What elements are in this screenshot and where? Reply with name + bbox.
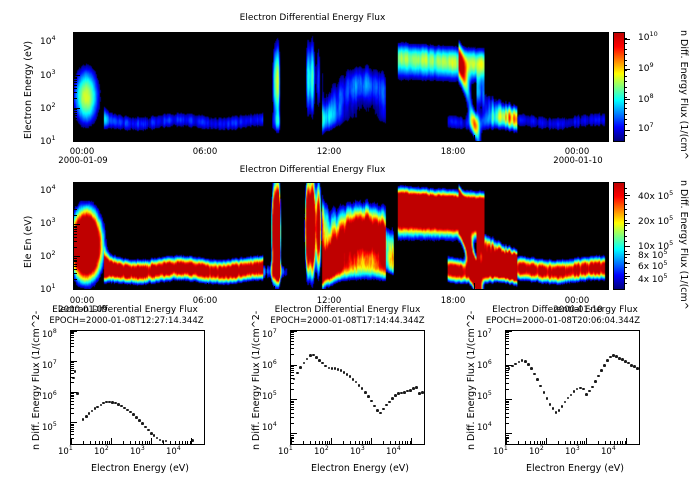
axis-tick: [291, 372, 294, 373]
axis-tick: [506, 433, 512, 434]
axis-tick: [291, 336, 294, 337]
axis-tick: [123, 441, 124, 444]
panel1-colorbar: [613, 32, 625, 142]
axis-tick: [506, 368, 509, 369]
colorbar-tick-minor: [624, 97, 627, 98]
panel1-date-right: 2000-01-10: [549, 157, 607, 166]
axis-tick: [343, 441, 344, 444]
axis-tick: [586, 438, 587, 444]
axis-tick: [506, 331, 512, 332]
axis-tick: [185, 441, 186, 444]
panel2-cbar-tick-40: 40x 105: [638, 193, 673, 202]
spectrum2-subtitle: EPOCH=2000-01-08T17:14:44.344Z: [245, 317, 450, 326]
axis-tick: [626, 438, 627, 444]
spectrum2-ytick-3: 106: [262, 362, 277, 371]
axis-tick: [71, 393, 74, 394]
panel2-title: Electron Differential Energy Flux: [0, 166, 625, 175]
axis-tick: [291, 437, 294, 438]
panel1-title: Electron Differential Energy Flux: [0, 14, 625, 23]
axis-tick: [525, 441, 526, 444]
panel2-colorbar: [613, 182, 625, 290]
axis-tick: [74, 80, 77, 81]
axis-tick: [291, 331, 297, 332]
axis-tick: [291, 441, 294, 442]
axis-tick: [546, 438, 547, 444]
data-point: [165, 440, 168, 443]
axis-tick: [565, 441, 566, 444]
axis-tick: [506, 375, 509, 376]
axis-tick: [496, 286, 497, 289]
panel2-ytick-2: 102: [40, 253, 56, 262]
colorbar-tick-minor: [624, 188, 627, 189]
axis-tick: [350, 441, 351, 444]
data-point: [391, 397, 394, 400]
axis-tick: [175, 441, 176, 444]
axis-tick: [139, 441, 140, 444]
axis-tick: [617, 441, 618, 444]
spectrum2-ytick-4: 107: [262, 331, 277, 340]
axis-tick: [506, 402, 509, 403]
axis-tick: [544, 441, 545, 444]
axis-tick: [452, 286, 453, 289]
axis-tick: [187, 441, 188, 444]
spectrum3-xtick-2: 102: [529, 448, 544, 457]
colorbar-tick-minor: [624, 225, 627, 226]
axis-tick: [291, 334, 294, 335]
data-point: [318, 359, 321, 362]
axis-tick: [71, 395, 74, 396]
axis-tick: [325, 441, 326, 444]
axis-tick: [541, 138, 542, 141]
axis-tick: [74, 65, 77, 66]
data-point: [606, 359, 609, 362]
spectrum3-ytick-3: 106: [477, 362, 492, 371]
data-point: [358, 384, 361, 387]
colorbar-tick-minor: [624, 76, 627, 77]
axis-tick: [359, 441, 360, 444]
axis-tick: [74, 113, 77, 114]
axis-tick: [109, 441, 110, 444]
data-point: [518, 361, 521, 364]
spectrum1-xlabel: Electron Energy (eV): [60, 464, 220, 474]
axis-tick: [506, 417, 509, 418]
axis-tick: [291, 354, 294, 355]
axis-tick: [74, 195, 77, 196]
axis-tick: [506, 441, 509, 442]
axis-tick: [506, 354, 509, 355]
axis-tick: [74, 264, 77, 265]
data-point: [303, 362, 306, 365]
axis-tick: [407, 138, 408, 141]
panel1-ytick-3: 103: [40, 72, 56, 81]
colorbar-tick-minor: [624, 262, 627, 263]
axis-tick: [341, 135, 342, 141]
axis-tick: [558, 441, 559, 444]
colorbar-tick-minor: [624, 81, 627, 82]
axis-tick: [274, 286, 275, 289]
axis-tick: [506, 332, 509, 333]
axis-tick: [541, 286, 542, 289]
spectrum1-xtick-1: 101: [58, 448, 73, 457]
axis-tick: [319, 441, 320, 444]
data-point: [153, 434, 156, 437]
axis-tick: [71, 368, 74, 369]
spectrum1-ytick-3: 107: [42, 362, 57, 371]
colorbar-tick-minor: [624, 119, 627, 120]
axis-tick: [71, 431, 74, 432]
data-point: [585, 393, 588, 396]
axis-tick: [71, 396, 74, 397]
axis-tick: [574, 441, 575, 444]
spectrum3-ytick-2: 105: [477, 393, 492, 402]
colorbar-tick-minor: [624, 103, 627, 104]
data-point: [135, 416, 138, 419]
axis-tick: [74, 109, 77, 110]
axis-tick: [506, 423, 509, 424]
data-point: [555, 411, 558, 414]
axis-tick: [207, 135, 208, 141]
spectrum2-xtick-4: 104: [386, 448, 401, 457]
axis-tick: [142, 441, 143, 444]
axis-tick: [185, 138, 186, 141]
spectrum1-xtick-2: 102: [94, 448, 109, 457]
axis-tick: [291, 413, 294, 414]
axis-tick: [118, 138, 119, 141]
axis-tick: [204, 441, 205, 444]
panel1-xtick-3: 12:00: [309, 148, 349, 157]
axis-tick: [518, 441, 519, 444]
axis-tick: [367, 441, 368, 444]
axis-tick: [140, 138, 141, 141]
colorbar-tick-minor: [624, 220, 627, 221]
colorbar-tick-minor: [624, 87, 627, 88]
colorbar-tick-minor: [624, 283, 627, 284]
spectrum2-xlabel: Electron Energy (eV): [280, 464, 440, 474]
axis-tick: [71, 427, 74, 428]
data-point: [364, 391, 367, 394]
axis-tick: [585, 138, 586, 141]
axis-tick: [402, 441, 403, 444]
data-point: [543, 391, 546, 394]
axis-tick: [74, 33, 77, 34]
panel2-cbar-tick-20: 20x 105: [638, 218, 673, 227]
data-point: [552, 407, 555, 410]
data-point: [546, 397, 549, 400]
axis-tick: [71, 362, 74, 363]
data-point: [530, 367, 533, 370]
spectrum1-plot: [70, 330, 205, 445]
data-point: [385, 404, 388, 407]
axis-tick: [322, 441, 323, 444]
data-point: [337, 368, 340, 371]
axis-tick: [291, 375, 294, 376]
axis-tick: [74, 269, 77, 270]
spectrum3-title: Electron Differential Energy Flux: [465, 306, 665, 315]
axis-tick: [71, 366, 74, 367]
axis-tick: [506, 413, 509, 414]
axis-tick: [430, 138, 431, 141]
axis-tick: [385, 138, 386, 141]
data-point: [315, 356, 318, 359]
panel1-date-left: 2000-01-09: [54, 157, 112, 166]
spectrum3-ytick-4: 107: [477, 331, 492, 340]
data-point: [367, 395, 370, 398]
colorbar-tick-minor: [624, 65, 627, 66]
axis-tick: [102, 441, 103, 444]
axis-tick: [506, 341, 509, 342]
axis-tick: [407, 441, 408, 444]
axis-tick: [580, 441, 581, 444]
panel2-ytick-1: 101: [40, 286, 56, 295]
axis-tick: [625, 441, 626, 444]
axis-tick: [331, 438, 332, 444]
colorbar-tick-minor: [624, 70, 627, 71]
axis-tick: [74, 215, 77, 216]
axis-tick: [74, 226, 77, 227]
axis-tick: [598, 441, 599, 444]
data-point: [388, 401, 391, 404]
axis-tick: [74, 59, 77, 60]
axis-tick: [585, 286, 586, 289]
axis-tick: [145, 441, 146, 444]
colorbar-tick-minor: [624, 214, 627, 215]
axis-tick: [71, 335, 74, 336]
axis-tick: [614, 441, 615, 444]
figure-root: Electron Differential Energy Flux Electr…: [0, 0, 697, 492]
axis-tick: [74, 283, 75, 289]
axis-tick: [410, 441, 411, 444]
panel2-colorbar-label: n Diff. Energy Flux (1/(cm^: [679, 180, 689, 310]
data-point: [636, 367, 639, 370]
axis-tick: [291, 402, 294, 403]
spectrum2-plot: [290, 330, 425, 445]
axis-tick: [452, 138, 453, 141]
data-point: [524, 360, 527, 363]
axis-tick: [291, 433, 297, 434]
axis-tick: [74, 82, 77, 83]
axis-tick: [291, 399, 297, 400]
data-point: [346, 373, 349, 376]
axis-tick: [163, 441, 164, 444]
axis-tick: [71, 382, 74, 383]
axis-tick: [329, 441, 330, 444]
data-point: [343, 371, 346, 374]
axis-tick: [506, 370, 509, 371]
axis-tick: [147, 441, 148, 444]
axis-tick: [74, 125, 77, 126]
data-point: [558, 409, 561, 412]
axis-tick: [383, 441, 384, 444]
axis-tick: [185, 286, 186, 289]
spectrum1-xtick-3: 103: [130, 448, 145, 457]
axis-tick: [74, 229, 77, 230]
data-point: [361, 387, 364, 390]
spectrum3-ytick-1: 104: [477, 424, 492, 433]
colorbar-tick-minor: [624, 241, 627, 242]
axis-tick: [537, 441, 538, 444]
data-point: [296, 372, 299, 375]
axis-tick: [582, 441, 583, 444]
spectrum2-ytick-2: 105: [262, 393, 277, 402]
spectrum2-xtick-1: 101: [278, 448, 293, 457]
axis-tick: [74, 42, 80, 43]
axis-tick: [111, 438, 112, 444]
axis-tick: [74, 98, 77, 99]
axis-tick: [130, 441, 131, 444]
colorbar-tick-minor: [624, 251, 627, 252]
colorbar-tick-minor: [624, 38, 627, 39]
colorbar-tick-minor: [624, 278, 627, 279]
axis-tick: [355, 441, 356, 444]
colorbar-tick-minor: [624, 124, 627, 125]
axis-tick: [74, 77, 77, 78]
axis-tick: [506, 344, 509, 345]
data-point: [536, 378, 539, 381]
axis-tick: [118, 286, 119, 289]
axis-tick: [74, 141, 80, 142]
axis-tick: [605, 441, 606, 444]
axis-tick: [390, 441, 391, 444]
colorbar-tick-minor: [624, 60, 627, 61]
data-point: [321, 362, 324, 365]
axis-tick: [506, 404, 509, 405]
panel1-xtick-4: 18:00: [433, 148, 473, 157]
data-point: [421, 391, 424, 394]
panel1-ytick-1: 101: [40, 138, 56, 147]
colorbar-tick-minor: [624, 108, 627, 109]
axis-tick: [74, 92, 77, 93]
axis-tick: [506, 348, 509, 349]
axis-tick: [99, 441, 100, 444]
axis-tick: [71, 424, 74, 425]
axis-tick: [506, 437, 509, 438]
data-point: [379, 412, 382, 415]
axis-tick: [315, 441, 316, 444]
axis-tick: [71, 340, 74, 341]
axis-tick: [74, 289, 80, 290]
axis-tick: [369, 441, 370, 444]
data-point: [328, 367, 331, 370]
axis-tick: [90, 441, 91, 444]
data-point: [324, 365, 327, 368]
axis-tick: [71, 434, 74, 435]
axis-tick: [291, 332, 294, 333]
axis-tick: [291, 407, 294, 408]
data-point: [597, 375, 600, 378]
spectrum1-ytick-1: 105: [42, 424, 57, 433]
panel2-xtick-4: 18:00: [433, 297, 473, 306]
data-point: [147, 429, 150, 432]
axis-tick: [140, 286, 141, 289]
axis-tick: [506, 365, 512, 366]
colorbar-tick-minor: [624, 130, 627, 131]
axis-tick: [74, 261, 77, 262]
panel1-ytick-4: 104: [40, 38, 56, 47]
axis-tick: [395, 441, 396, 444]
axis-tick: [182, 441, 183, 444]
data-point: [141, 422, 144, 425]
data-point: [521, 359, 524, 362]
colorbar-tick-minor: [624, 114, 627, 115]
data-point: [600, 369, 603, 372]
axis-tick: [229, 138, 230, 141]
axis-tick: [506, 338, 509, 339]
axis-tick: [74, 234, 77, 235]
colorbar-tick-minor: [624, 236, 627, 237]
axis-tick: [274, 138, 275, 141]
spectrum3-xtick-1: 101: [493, 448, 508, 457]
axis-tick: [74, 88, 77, 89]
axis-tick: [74, 118, 77, 119]
axis-tick: [506, 336, 509, 337]
axis-tick: [71, 364, 74, 365]
axis-tick: [74, 231, 77, 232]
panel1-cbar-tick-3: 109: [638, 65, 654, 74]
data-point: [582, 388, 585, 391]
axis-tick: [563, 286, 564, 289]
data-point: [132, 413, 135, 416]
colorbar-tick-minor: [624, 198, 627, 199]
data-point: [85, 415, 88, 418]
axis-tick: [74, 279, 77, 280]
data-point: [331, 367, 334, 370]
axis-tick: [296, 286, 297, 289]
axis-tick: [74, 50, 77, 51]
colorbar-tick-minor: [624, 92, 627, 93]
axis-tick: [96, 138, 97, 141]
data-point: [88, 412, 91, 415]
axis-tick: [291, 401, 294, 402]
colorbar-tick-minor: [624, 273, 627, 274]
axis-tick: [610, 441, 611, 444]
axis-tick: [570, 441, 571, 444]
spectrum3-ylabel: n Diff. Energy Flux (1/(cm^2-: [467, 311, 477, 450]
colorbar-tick: [624, 263, 630, 264]
axis-tick: [74, 85, 77, 86]
data-point: [299, 366, 302, 369]
axis-tick: [371, 438, 372, 444]
axis-tick: [190, 441, 191, 444]
colorbar-tick: [624, 223, 630, 224]
spectrogram-top-plot: [73, 32, 609, 142]
axis-tick: [74, 44, 77, 45]
panel1-cbar-tick-4: 1010: [638, 34, 658, 43]
axis-tick: [71, 413, 74, 414]
axis-tick: [74, 47, 77, 48]
axis-tick: [95, 441, 96, 444]
axis-tick: [424, 441, 425, 444]
data-point: [144, 426, 147, 429]
axis-tick: [74, 205, 77, 206]
axis-tick: [291, 348, 294, 349]
data-point: [588, 390, 591, 393]
axis-tick: [74, 266, 77, 267]
axis-tick: [74, 227, 77, 228]
axis-tick: [291, 365, 297, 366]
axis-tick: [71, 337, 74, 338]
axis-tick: [74, 46, 77, 47]
data-point: [376, 409, 379, 412]
axis-tick: [291, 438, 294, 439]
colorbar-tick-minor: [624, 257, 627, 258]
panel2-ylabel: Ele En (eV): [24, 216, 34, 268]
axis-tick: [74, 197, 77, 198]
data-point: [415, 386, 418, 389]
axis-tick: [74, 192, 80, 193]
axis-tick: [151, 438, 152, 444]
axis-tick: [191, 438, 192, 444]
axis-tick: [74, 75, 80, 76]
